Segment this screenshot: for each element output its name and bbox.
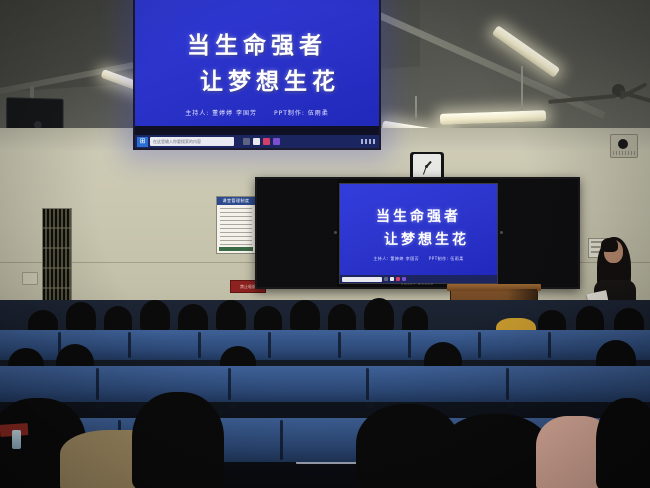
seat-divider [128, 332, 131, 358]
start-button-icon[interactable]: ⊞ [137, 137, 148, 147]
audience-member [140, 300, 170, 332]
slide-credit-ppt: PPT制作: 伍雨柔 [274, 110, 329, 117]
audience-member [290, 300, 320, 332]
task-view-icon[interactable] [243, 138, 250, 145]
audience-member [216, 300, 246, 332]
camera-label [613, 151, 635, 155]
seat-divider [506, 368, 509, 400]
wall-camera-icon [610, 134, 638, 158]
taskbar-icons[interactable] [243, 138, 280, 145]
light-suspension-rod [521, 66, 523, 110]
board-indicator [500, 231, 503, 234]
board-credit-ppt: PPT制作: 伍雨柔 [429, 256, 464, 261]
explorer-icon[interactable] [253, 138, 260, 145]
windows-taskbar[interactable]: ⊞ 在这里输入你要搜索的内容 [135, 135, 379, 148]
board-right-panel [498, 179, 578, 287]
mail-icon[interactable] [263, 138, 270, 145]
taskbar-search-input[interactable]: 在这里输入你要搜索的内容 [150, 137, 234, 146]
audience-member-foreground [440, 414, 550, 488]
wall-projection-screen: 当生命强者 让梦想生花 主持人: 董婷婷 李国芳 PPT制作: 伍雨柔 ⊞ 在这… [133, 0, 381, 150]
tray-icon[interactable] [365, 139, 367, 144]
poster-header-text: 课堂管理制度 [217, 197, 255, 205]
store-icon[interactable] [273, 138, 280, 145]
board-slide-title-line-1: 当生命强者 [340, 206, 497, 226]
board-slide-title-line-2: 让梦想生花 [340, 229, 497, 249]
slide-title-line-2: 让梦想生花 [135, 62, 379, 96]
smart-board-screen[interactable]: 当生命强者 让梦想生花 主持人: 董婷婷 李国芳 PPT制作: 伍雨柔 [339, 183, 498, 284]
audience-member-foreground [132, 392, 224, 488]
seat-divider [338, 332, 341, 358]
seat-divider [228, 368, 231, 400]
board-mail-icon[interactable] [396, 277, 400, 281]
light-suspension-rod [415, 96, 417, 118]
presenter-hair-front [601, 238, 618, 252]
fluorescent-tube-icon [440, 110, 546, 125]
poster-footer-bar [219, 247, 253, 251]
audience-member [66, 302, 96, 332]
board-task-view-icon[interactable] [384, 277, 388, 281]
camera-lens [618, 139, 628, 149]
board-left-panel [257, 179, 337, 287]
slide-credits: 主持人: 董婷婷 李国芳 PPT制作: 伍雨柔 [135, 108, 379, 117]
water-bottle [12, 430, 21, 449]
seat-divider [548, 332, 551, 358]
interactive-smart-board[interactable]: 当生命强者 让梦想生花 主持人: 董婷婷 李国芳 PPT制作: 伍雨柔 SMAR… [255, 177, 580, 289]
slide-credit-host: 主持人: 董婷婷 李国芳 [185, 110, 257, 117]
board-slide-credits: 主持人: 董婷婷 李国芳 PPT制作: 伍雨柔 [340, 256, 497, 262]
clock-center-pin [425, 165, 428, 168]
seat-divider [268, 332, 271, 358]
board-search-input[interactable] [342, 277, 382, 282]
tray-icon[interactable] [369, 139, 371, 144]
seat-divider [366, 368, 369, 400]
seat-divider [408, 332, 411, 358]
seat-divider [198, 332, 201, 358]
board-explorer-icon[interactable] [390, 277, 394, 281]
tray-icon[interactable] [361, 139, 363, 144]
audience-member-foreground [596, 398, 650, 488]
audience-member [364, 298, 394, 332]
power-outlet[interactable] [22, 272, 38, 285]
seat-divider [478, 332, 481, 358]
poster-body-text [220, 208, 252, 247]
seat-divider [96, 368, 99, 400]
notice-poster: 课堂管理制度 [216, 196, 256, 254]
board-store-icon[interactable] [402, 277, 406, 281]
projected-slide: 当生命强者 让梦想生花 主持人: 董婷婷 李国芳 PPT制作: 伍雨柔 [135, 0, 379, 126]
board-credit-host: 主持人: 董婷婷 李国芳 [373, 256, 419, 261]
slide-title-line-1: 当生命强者 [135, 26, 379, 60]
seat-divider [280, 420, 283, 460]
classroom-photo-scene: 课堂管理制度 禁止吸烟 当生命强者 让梦想生花 主持人: 董婷婷 李国芳 PPT… [0, 0, 650, 488]
board-indicator [334, 231, 337, 234]
board-brand-label: SMART BOARD [401, 282, 434, 286]
taskbar-system-tray[interactable] [361, 139, 377, 144]
tray-icon[interactable] [373, 139, 375, 144]
seat-row [0, 330, 650, 360]
